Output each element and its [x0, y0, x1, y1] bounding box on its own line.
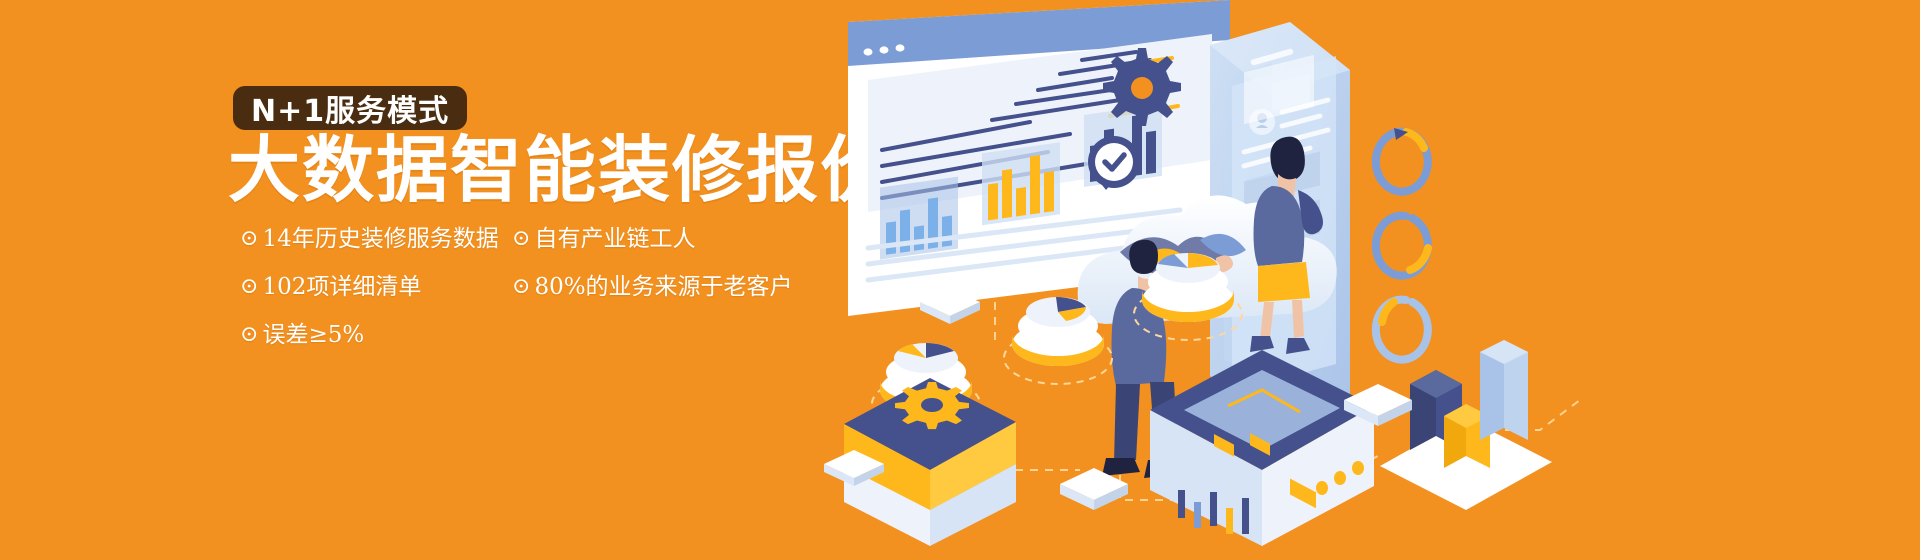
bullet-col-right: ⊙ [512, 318, 784, 352]
circular-arrow-ring [1376, 128, 1428, 192]
businessman-figure [1102, 240, 1233, 478]
checkmark-badge [1088, 136, 1140, 190]
feature-bullet-label: 80%的业务来源于老客户 [534, 270, 792, 304]
bullet-col-left: ⊙ 14年历史装修服务数据 [240, 222, 512, 256]
gear-icon-small [1254, 40, 1310, 96]
gear-icon-large [1103, 48, 1181, 126]
bar-navy [1410, 370, 1462, 450]
feature-bullet-label: 自有产业链工人 [534, 222, 695, 256]
cloud-shape [1078, 195, 1337, 324]
service-mode-badge: N+1服务模式 [233, 86, 467, 130]
bullet-col-right: ⊙ 自有产业链工人 [512, 222, 784, 256]
feature-bullet: ⊙ 误差≥5% [240, 318, 512, 352]
bullet-marker-icon: ⊙ [512, 222, 530, 256]
banner-copy-block: N+1服务模式 大数据智能装修报价 ⊙ 14年历史装修服务数据 ⊙ 自有产业链工… [0, 0, 1000, 560]
feature-bullet-list: ⊙ 14年历史装修服务数据 ⊙ 自有产业链工人 ⊙ 102项详细清单 [240, 222, 800, 366]
banner-headline: 大数据智能装修报价 [228, 134, 894, 206]
floating-card-tile [1344, 384, 1412, 426]
bullet-marker-icon: ⊙ [240, 318, 258, 352]
banner-headline-text: 大数据智能装修报价 [228, 128, 894, 212]
service-mode-badge-label: N+1服务模式 [251, 86, 449, 130]
data-cylinder [1004, 297, 1112, 384]
bullet-col-right: ⊙ 80%的业务来源于老客户 [512, 270, 784, 304]
bullet-col-left: ⊙ 102项详细清单 [240, 270, 512, 304]
feature-bullet: ⊙ 自有产业链工人 [512, 222, 784, 256]
bullet-row: ⊙ 102项详细清单 ⊙ 80%的业务来源于老客户 [240, 270, 800, 304]
phone-screen-content [1244, 55, 1328, 266]
chart-grid-3 [1084, 104, 1162, 187]
feature-bullet-label: 102项详细清单 [262, 270, 421, 304]
bullet-marker-icon: ⊙ [240, 270, 258, 304]
server-box [1150, 350, 1374, 546]
feature-bullet-label: 14年历史装修服务数据 [262, 222, 498, 256]
bar-blue [1480, 340, 1528, 440]
feature-bullet: ⊙ 80%的业务来源于老客户 [512, 270, 784, 304]
bullet-marker-icon: ⊙ [240, 222, 258, 256]
bullet-row: ⊙ 误差≥5% ⊙ [240, 318, 800, 352]
smartphone-device [1210, 22, 1350, 424]
feature-bullet: ⊙ 102项详细清单 [240, 270, 512, 304]
businesswoman-figure [1250, 137, 1323, 354]
bullet-col-left: ⊙ 误差≥5% [240, 318, 512, 352]
bar-yellow [1444, 404, 1490, 468]
circular-arrow-ring [1376, 300, 1428, 360]
feature-bullet-label: 误差≥5% [262, 318, 364, 352]
data-cylinder [1134, 253, 1242, 340]
bar-group-navy [1090, 115, 1156, 182]
floating-card-tile [1060, 468, 1128, 510]
text-line-highlight-group [1110, 58, 1178, 116]
circular-arrow-ring [1376, 216, 1428, 276]
bullet-row: ⊙ 14年历史装修服务数据 ⊙ 自有产业链工人 [240, 222, 800, 256]
server-led-group [1316, 461, 1364, 495]
server-topology-diagram [1214, 390, 1316, 508]
server-mini-bars [1178, 490, 1249, 534]
bar-chart-3d [1380, 340, 1552, 510]
bullet-marker-icon: ⊙ [512, 270, 530, 304]
promo-banner: N+1服务模式 大数据智能装修报价 ⊙ 14年历史装修服务数据 ⊙ 自有产业链工… [0, 0, 1920, 560]
feature-bullet: ⊙ 14年历史装修服务数据 [240, 222, 512, 256]
